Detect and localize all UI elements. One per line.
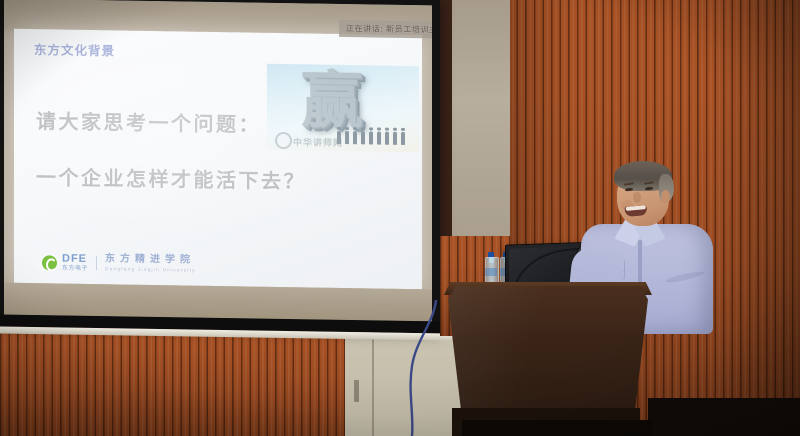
slide-footer-logo: DFE 东方电子 东方精进学院 Dongfang Jingjin Univers…	[42, 253, 196, 273]
presentation-slide: 东方文化背景 请大家思考一个问题： 一个企业怎样才能活下去？ 赢 中华讲师网	[14, 29, 422, 289]
school-name-en: Dongfang Jingjin University	[105, 267, 196, 273]
dark-floor-right	[648, 398, 800, 436]
projection-screen-frame: 东方文化背景 请大家思考一个问题： 一个企业怎样才能活下去？ 赢 中华讲师网	[0, 0, 440, 330]
watermark-ring-icon	[275, 132, 292, 149]
beige-wall-upper	[452, 0, 510, 250]
crowd-figures	[335, 122, 413, 145]
bottle-label	[485, 268, 497, 276]
dfe-brand-en: DFE	[62, 254, 88, 265]
dfe-brand-cn: 东方电子	[62, 266, 88, 272]
slide-question-line-1: 请大家思考一个问题：	[36, 105, 261, 138]
dfe-wordmark: DFE 东方电子	[62, 254, 88, 272]
slide-image-winning-character: 赢 中华讲师网	[267, 64, 419, 152]
wall-outlet-plate	[354, 380, 359, 402]
slide-image-watermark: 中华讲师网	[293, 135, 343, 149]
nose	[633, 192, 641, 203]
dark-floor-front	[462, 420, 652, 436]
projection-screen-surface: 东方文化背景 请大家思考一个问题： 一个企业怎样才能活下去？ 赢 中华讲师网	[4, 0, 432, 321]
slide-question-line-2: 一个企业怎样才能活下去？	[36, 161, 306, 194]
school-wordmark: 东方精进学院 Dongfang Jingjin University	[105, 255, 196, 274]
dfe-leaf-logo-icon	[42, 255, 57, 270]
slide-title: 东方文化背景	[34, 39, 115, 59]
logo-divider	[96, 256, 97, 270]
lecture-hall-photo: 东方文化背景 请大家思考一个问题： 一个企业怎样才能活下去？ 赢 中华讲师网	[0, 0, 800, 436]
water-bottle	[485, 252, 497, 284]
now-speaking-banner: 正在讲话: 新员工培训主会场	[339, 20, 432, 39]
teeth	[626, 205, 646, 211]
ear	[661, 190, 670, 203]
school-name-cn: 东方精进学院	[105, 255, 196, 266]
